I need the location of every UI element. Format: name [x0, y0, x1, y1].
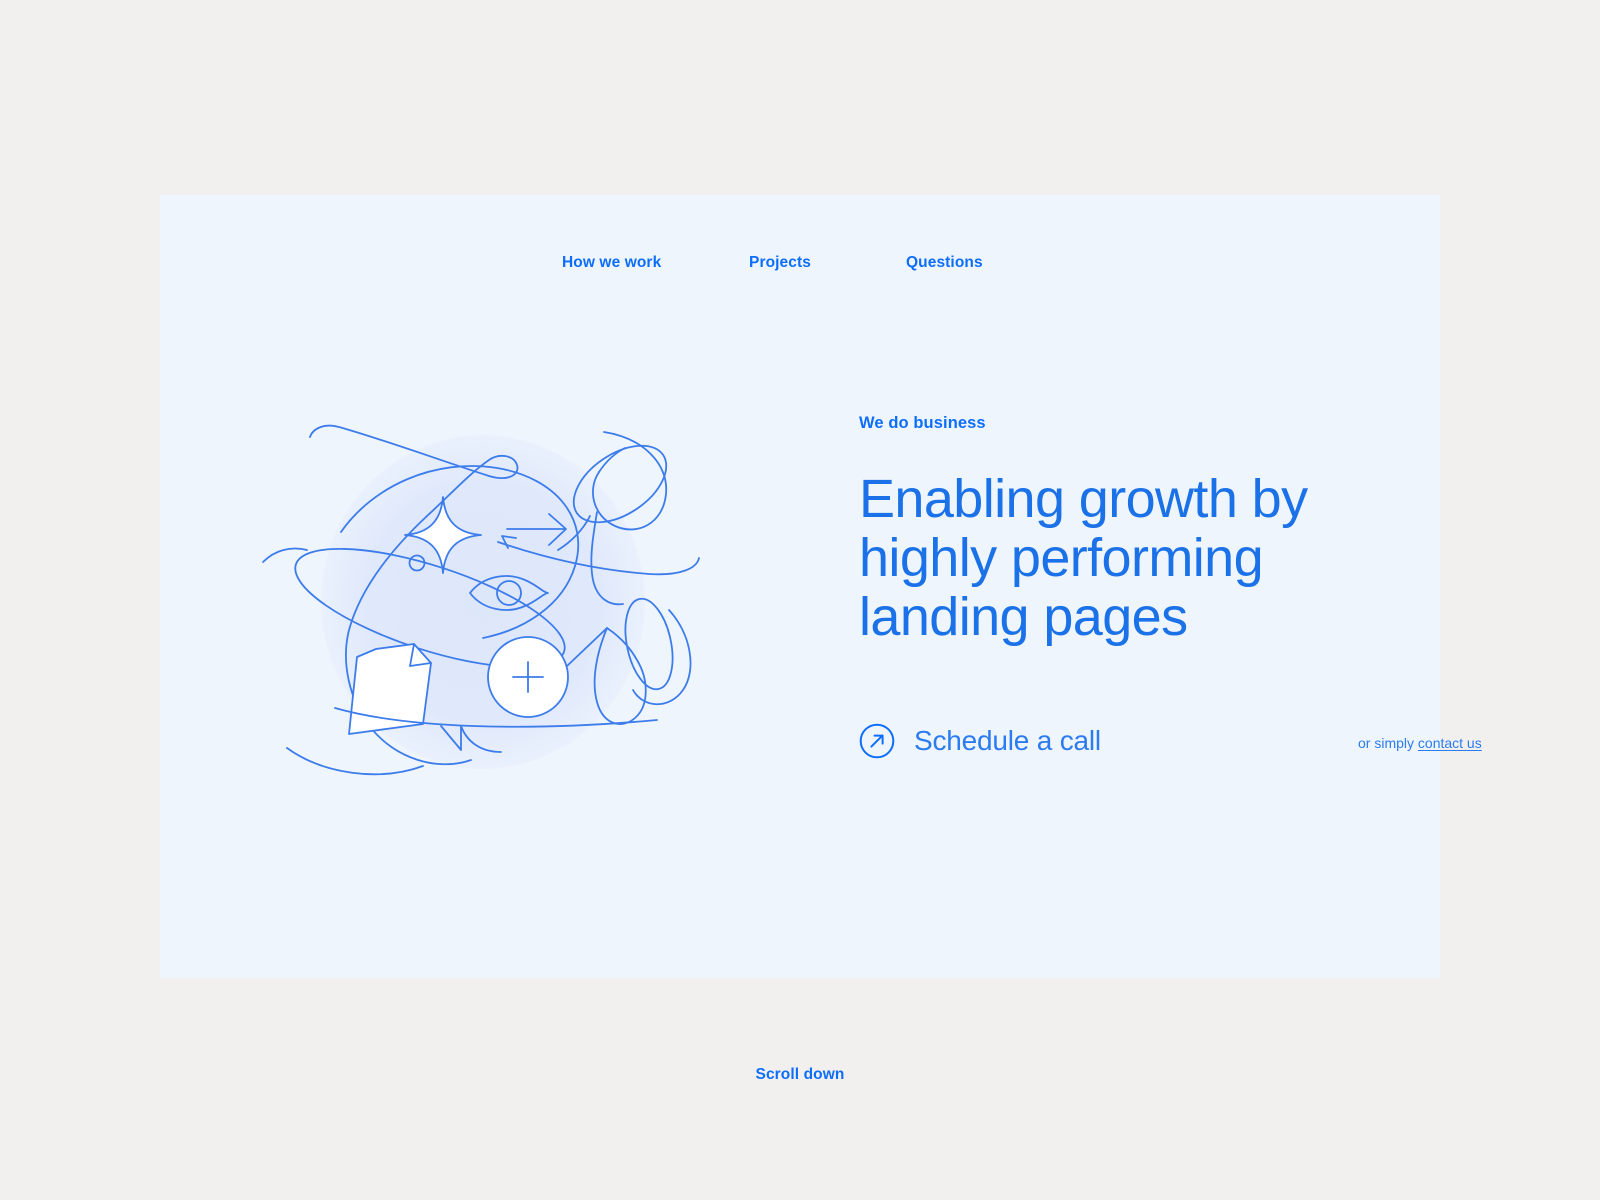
arrow-up-right-circle-icon	[859, 723, 895, 759]
main-navigation: How we work Projects Questions	[160, 251, 1440, 275]
schedule-a-call-label: Schedule a call	[914, 723, 1101, 759]
contact-us-link[interactable]: contact us	[1418, 735, 1482, 751]
contact-note: or simply contact us	[1358, 733, 1482, 753]
arc-bottom-left	[287, 748, 423, 774]
cta-row: Schedule a call or simply contact us	[859, 723, 1399, 767]
nav-item-how-we-work[interactable]: How we work	[562, 251, 661, 275]
page-title: Enabling growth by highly performing lan…	[859, 470, 1379, 647]
scroll-down-label[interactable]: Scroll down	[0, 1066, 1600, 1084]
hero-copy: We do business Enabling growth by highly…	[859, 412, 1379, 647]
hero-card: How we work Projects Questions	[160, 195, 1440, 978]
plus-circle-icon	[488, 637, 568, 717]
document-page-icon	[349, 644, 431, 734]
abstract-line-art-illustration	[245, 390, 705, 790]
schedule-a-call-button[interactable]: Schedule a call	[859, 723, 1101, 759]
nav-item-projects[interactable]: Projects	[749, 251, 811, 275]
nav-item-questions[interactable]: Questions	[906, 251, 983, 275]
contact-note-prefix: or simply	[1358, 735, 1418, 751]
page-root: How we work Projects Questions	[0, 0, 1600, 1200]
arc-left-small	[263, 549, 307, 563]
hero-eyebrow: We do business	[859, 412, 1379, 434]
